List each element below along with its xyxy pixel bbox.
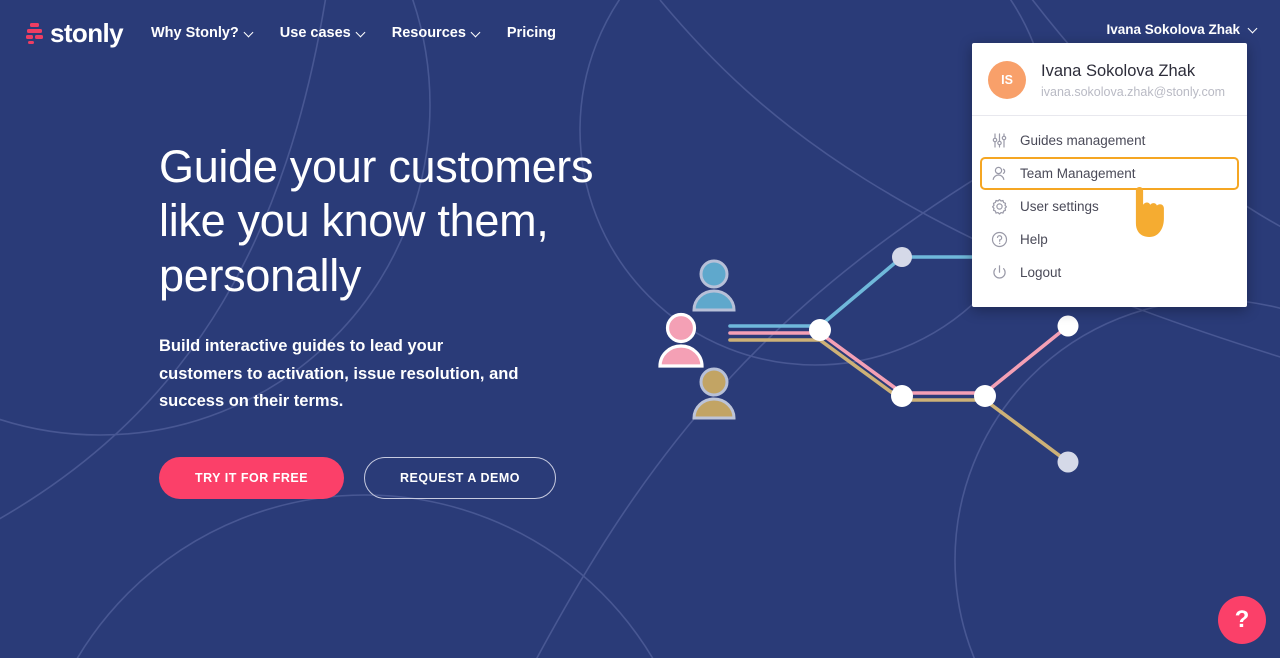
person-icon-tan <box>694 369 734 418</box>
dropdown-item-list: Guides management Team Management <box>972 116 1247 299</box>
profile-email: ivana.sokolova.zhak@stonly.com <box>1041 85 1225 99</box>
nav-label: Resources <box>392 25 466 41</box>
chevron-down-icon <box>245 29 254 38</box>
user-dropdown-menu: IS Ivana Sokolova Zhak ivana.sokolova.zh… <box>972 43 1247 307</box>
hero-subtitle: Build interactive guides to lead your cu… <box>159 333 524 415</box>
stonly-logo-icon <box>26 22 43 44</box>
nav-item-why-stonly[interactable]: Why Stonly? <box>151 25 254 41</box>
nav-item-resources[interactable]: Resources <box>392 25 481 41</box>
avatar: IS <box>988 61 1026 99</box>
stonly-logo[interactable]: stonly <box>26 18 123 49</box>
menu-item-label: User settings <box>1020 199 1099 214</box>
node-mid-right <box>974 385 996 407</box>
chevron-down-icon <box>472 29 481 38</box>
question-circle-icon <box>991 231 1008 248</box>
chevron-down-icon <box>357 29 366 38</box>
hero-cta-group: TRY IT FOR FREE REQUEST A DEMO <box>159 457 629 499</box>
logo-text: stonly <box>50 18 123 49</box>
menu-item-help[interactable]: Help <box>980 223 1239 256</box>
menu-item-guides-management[interactable]: Guides management <box>980 124 1239 157</box>
menu-item-label: Help <box>1020 232 1048 247</box>
node-lower-right <box>1058 452 1079 473</box>
power-icon <box>991 264 1008 281</box>
node-upper-right <box>1058 316 1079 337</box>
main-navigation: Why Stonly? Use cases Resources Pricing <box>151 25 556 41</box>
nav-item-use-cases[interactable]: Use cases <box>280 25 366 41</box>
menu-item-logout[interactable]: Logout <box>980 256 1239 289</box>
dropdown-profile-header: IS Ivana Sokolova Zhak ivana.sokolova.zh… <box>972 43 1247 116</box>
nav-item-pricing[interactable]: Pricing <box>507 25 556 41</box>
node-hub <box>809 319 831 341</box>
person-icon-blue <box>694 261 734 310</box>
account-menu-button[interactable]: Ivana Sokolova Zhak <box>1106 22 1258 37</box>
account-name-label: Ivana Sokolova Zhak <box>1106 22 1240 37</box>
sliders-icon <box>991 132 1008 149</box>
person-icon <box>991 165 1008 182</box>
landing-page: stonly Why Stonly? Use cases Resources P… <box>0 0 1280 658</box>
person-icon-pink <box>660 315 702 367</box>
nav-label: Why Stonly? <box>151 25 239 41</box>
menu-item-team-management[interactable]: Team Management <box>980 157 1239 190</box>
hero-section: Guide your customers like you know them,… <box>159 140 629 499</box>
chevron-down-icon <box>1249 25 1258 34</box>
menu-item-label: Team Management <box>1020 166 1136 181</box>
nav-label: Use cases <box>280 25 351 41</box>
nav-label: Pricing <box>507 25 556 41</box>
page-title: Guide your customers like you know them,… <box>159 140 629 303</box>
profile-name: Ivana Sokolova Zhak <box>1041 61 1225 82</box>
menu-item-label: Logout <box>1020 265 1061 280</box>
node-top <box>892 247 912 267</box>
help-button[interactable]: ? <box>1218 596 1266 644</box>
request-demo-button[interactable]: REQUEST A DEMO <box>364 457 556 499</box>
menu-item-label: Guides management <box>1020 133 1145 148</box>
gear-icon <box>991 198 1008 215</box>
menu-item-user-settings[interactable]: User settings <box>980 190 1239 223</box>
try-for-free-button[interactable]: TRY IT FOR FREE <box>159 457 344 499</box>
node-mid-left <box>891 385 913 407</box>
